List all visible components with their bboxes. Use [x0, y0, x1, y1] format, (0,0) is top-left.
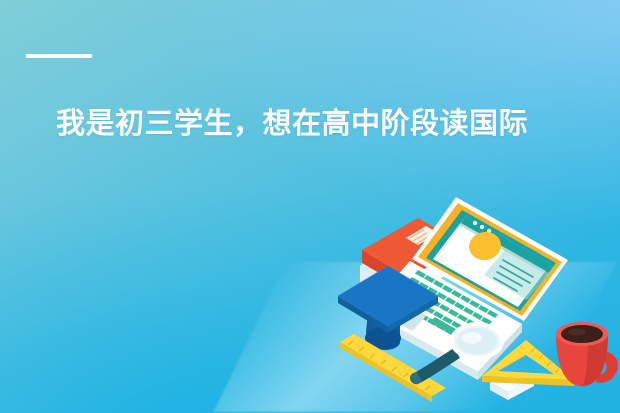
headline-text: 我是初三学生，想在高中阶段读国际 [56, 106, 576, 142]
accent-rule [26, 54, 92, 58]
promo-banner: 我是初三学生，想在高中阶段读国际 [0, 0, 620, 413]
coffee-mug-icon [556, 322, 618, 386]
study-desk-illustration [330, 186, 620, 413]
